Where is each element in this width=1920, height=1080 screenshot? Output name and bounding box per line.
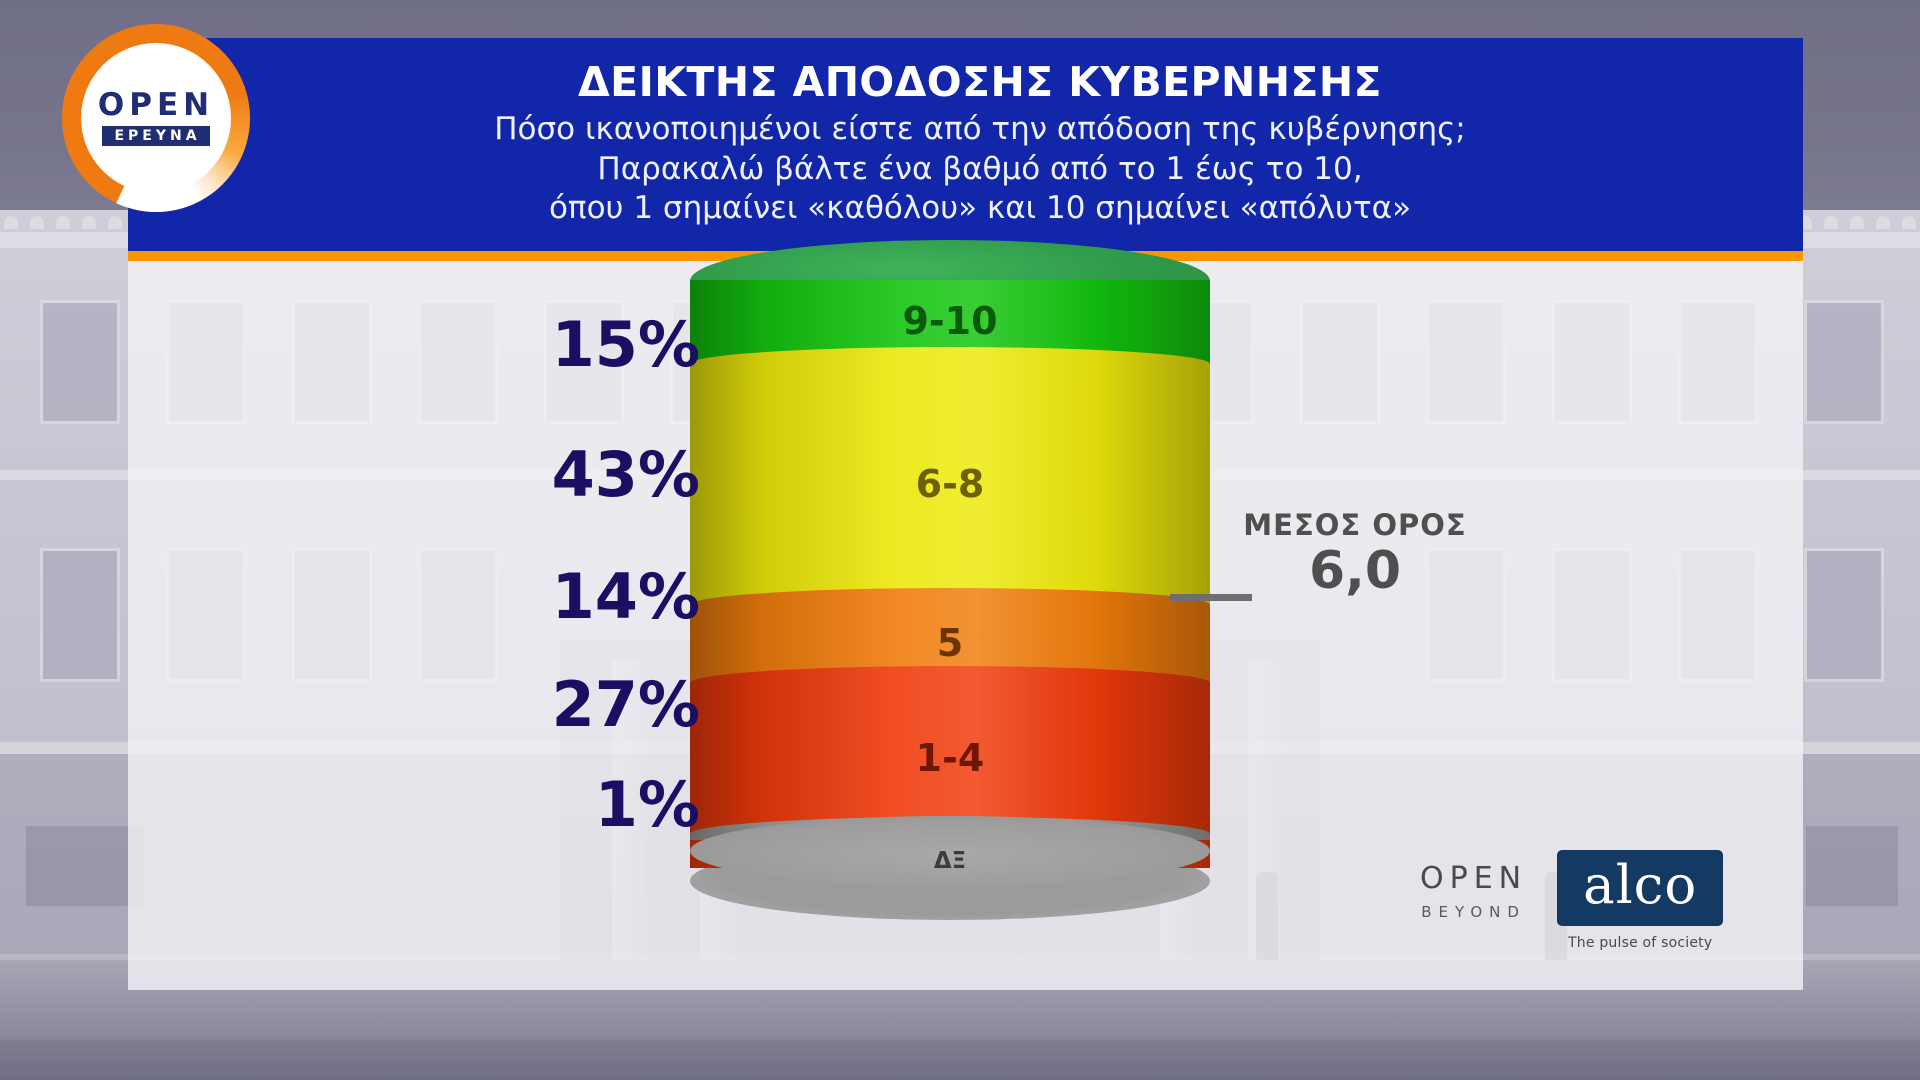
open-beyond-top-word: OPEN — [1420, 864, 1527, 894]
percent-value-ΔΞ: 1% — [430, 770, 708, 840]
cylinder-segment-label: 6-8 — [690, 465, 1210, 503]
building-window — [40, 300, 120, 424]
header-subtitle-line-3: όπου 1 σημαίνει «καθόλου» και 10 σημαίνε… — [549, 189, 1411, 229]
footer-logo-group: OPEN BEYOND alco The pulse of society — [1420, 850, 1780, 960]
average-label: ΜΕΣΟΣ ΟΡΟΣ — [1190, 510, 1520, 542]
alco-wordmark: alco — [1557, 850, 1723, 926]
roof-crenel — [4, 216, 18, 229]
roof-crenel — [108, 216, 122, 229]
alco-tagline: The pulse of society — [1568, 935, 1712, 951]
open-beyond-bottom-word: BEYOND — [1421, 905, 1526, 920]
cylinder-segment-label-dk: ΔΞ — [690, 850, 1210, 873]
percent-value-5: 14% — [430, 562, 708, 632]
building-window — [1804, 548, 1884, 682]
average-value: 6,0 — [1190, 544, 1520, 599]
average-callout: ΜΕΣΟΣ ΟΡΟΣ 6,0 — [1190, 510, 1520, 598]
logo-disc: OPEN ΕΡΕΥΝΑ — [81, 43, 231, 193]
percent-label-column: 15%43%14%27%1% — [430, 300, 700, 880]
percent-value-9-10: 15% — [430, 310, 708, 380]
page-title: ΔΕΙΚΤΗΣ ΑΠΟΔΟΣΗΣ ΚΥΒΕΡΝΗΣΗΣ — [578, 61, 1382, 104]
cylinder-segment-label: 5 — [690, 624, 1210, 662]
stacked-cylinder-chart: 9-106-851-4ΔΞ — [690, 280, 1210, 920]
open-beyond-logo: OPEN BEYOND — [1420, 850, 1527, 920]
cylinder-segment-label: 1-4 — [690, 739, 1210, 777]
building-window — [1804, 300, 1884, 424]
roof-crenel — [1824, 216, 1838, 229]
percent-value-6-8: 43% — [430, 440, 708, 510]
logo-erevna-badge: ΕΡΕΥΝΑ — [102, 126, 209, 146]
alco-logo: alco The pulse of society — [1557, 850, 1723, 951]
percent-value-1-4: 27% — [430, 670, 708, 740]
crowd-silhouettes — [0, 1040, 1920, 1080]
roof-crenel — [56, 216, 70, 229]
monument-plaque-right — [1806, 826, 1898, 906]
roof-crenel — [30, 216, 44, 229]
roof-crenel — [1850, 216, 1864, 229]
roof-crenel — [82, 216, 96, 229]
roof-crenel — [1876, 216, 1890, 229]
roof-crenel — [1902, 216, 1916, 229]
open-erevna-logo: OPEN ΕΡΕΥΝΑ — [62, 24, 250, 212]
header-subtitle-line-1: Πόσο ικανοποιημένοι είστε από την απόδοσ… — [494, 110, 1466, 150]
monument-plaque-left — [26, 826, 144, 906]
logo-open-wordmark: OPEN — [98, 90, 214, 121]
cylinder-body: 9-106-851-4ΔΞ — [690, 280, 1210, 880]
header-subtitle-line-2: Παρακαλώ βάλτε ένα βαθμό από το 1 έως το… — [597, 150, 1362, 190]
header-text-block: ΔΕΙΚΤΗΣ ΑΠΟΔΟΣΗΣ ΚΥΒΕΡΝΗΣΗΣ Πόσο ικανοπο… — [270, 40, 1690, 250]
cylinder-segment-label: 9-10 — [690, 302, 1210, 340]
building-window — [40, 548, 120, 682]
